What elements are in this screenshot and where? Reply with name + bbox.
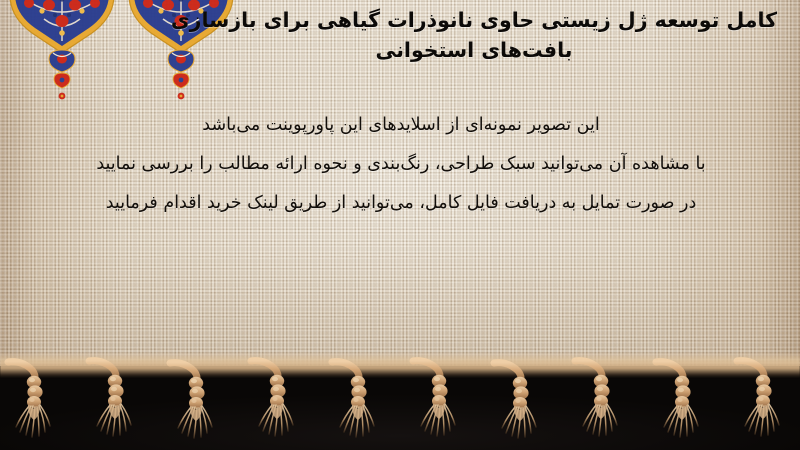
body-line-2: با مشاهده آن می‌توانید سبک طراحی، رنگ‌بن… (56, 145, 746, 184)
tassel (332, 362, 374, 437)
carpet-fringe-tassels (0, 352, 800, 450)
ornament-left (10, 0, 114, 99)
slide-title: کامل توسعه ژل زیستی حاوی نانوذرات گیاهی … (150, 6, 798, 66)
body-line-1: این تصویر نمونه‌ای از اسلایدهای این پاور… (56, 106, 746, 145)
tassel (413, 361, 455, 436)
slide-canvas: کامل توسعه ژل زیستی حاوی نانوذرات گیاهی … (0, 0, 800, 450)
slide-title-line-2: بافت‌های استخوانی (150, 36, 798, 66)
tassel (89, 361, 131, 436)
tassel (251, 361, 293, 436)
slide-title-line-1: کامل توسعه ژل زیستی حاوی نانوذرات گیاهی … (171, 8, 777, 32)
tassel (170, 363, 212, 438)
body-line-3: در صورت تمایل به دریافت فایل کامل، می‌تو… (56, 184, 746, 223)
slide-body-text: این تصویر نمونه‌ای از اسلایدهای این پاور… (56, 106, 746, 223)
tassel (575, 361, 617, 436)
tassel (494, 363, 536, 438)
tassel (8, 362, 50, 437)
tassel (656, 362, 698, 437)
tassel (737, 361, 779, 436)
